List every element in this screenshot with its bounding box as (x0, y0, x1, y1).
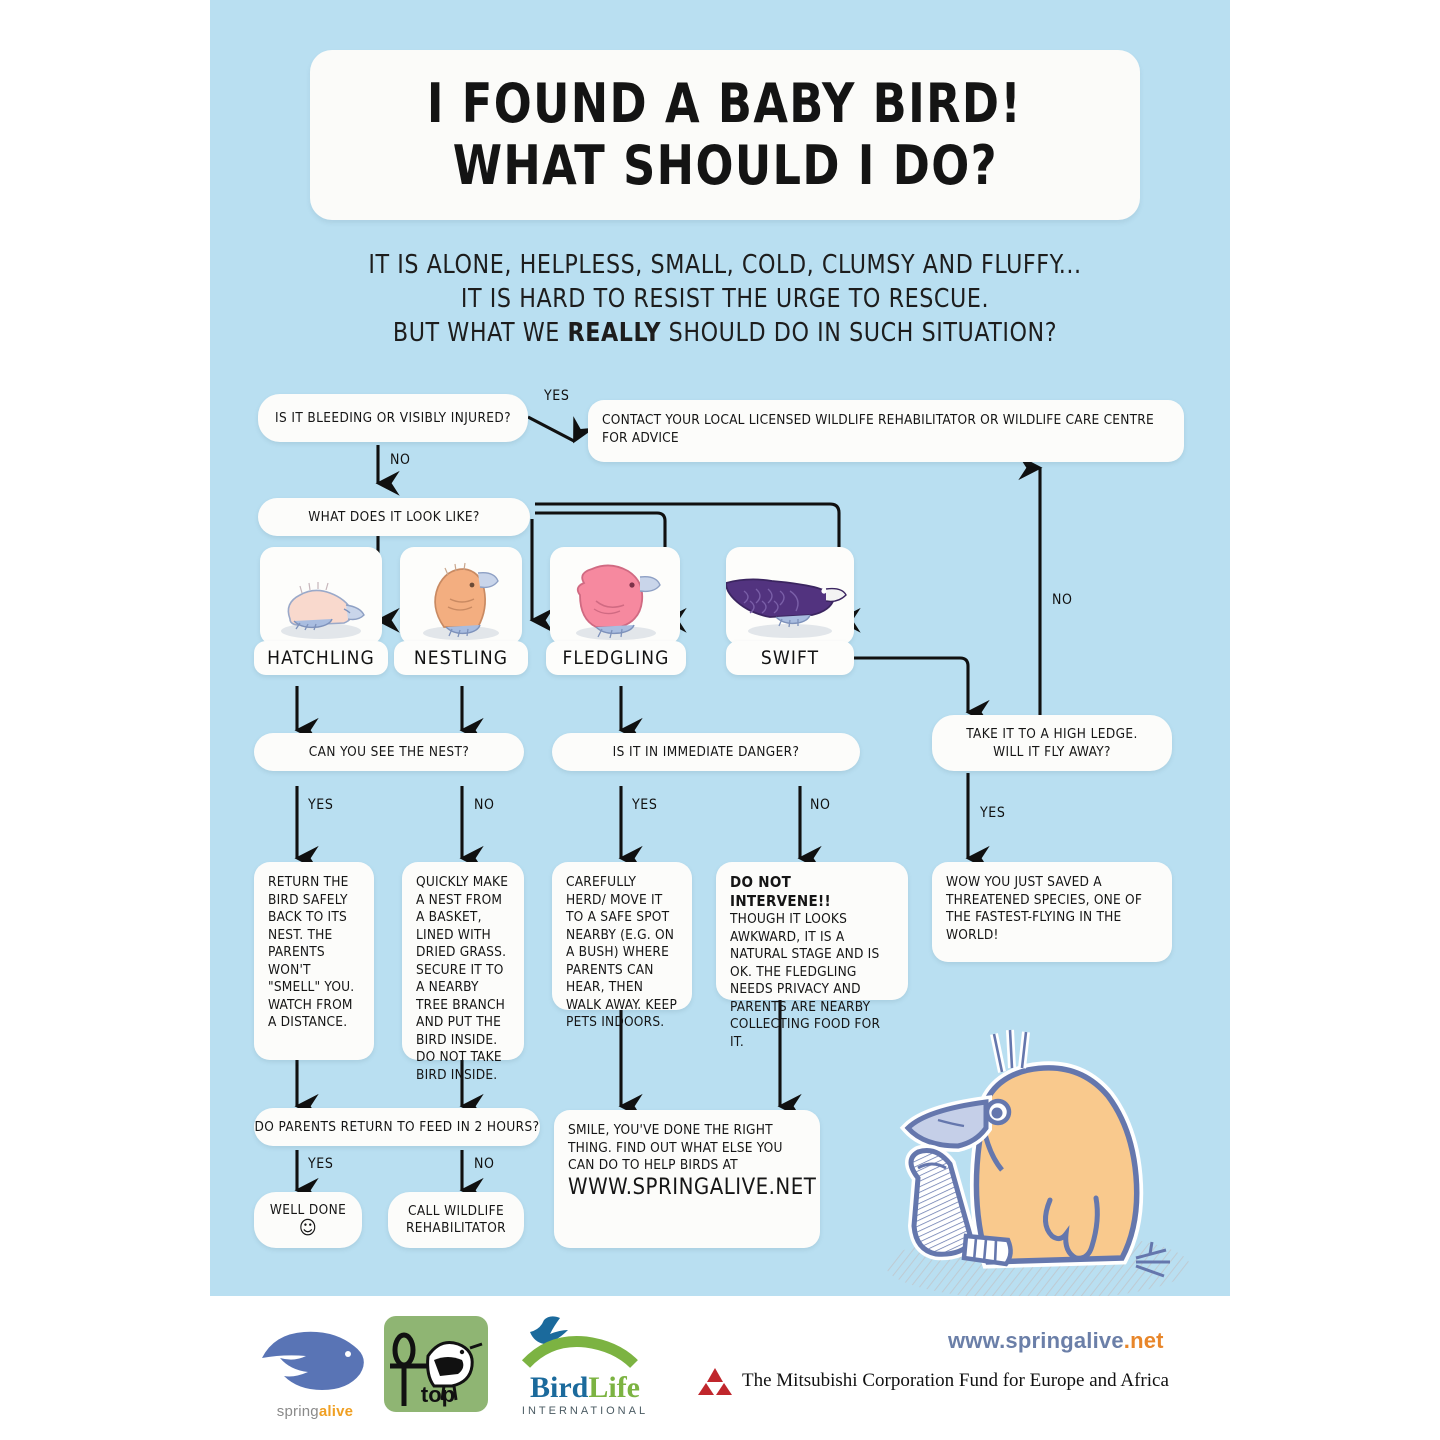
edge-label-parents-no: NO (474, 1156, 495, 1172)
spring-alive-word-alive: alive (319, 1403, 353, 1420)
fledgling-bird-icon (550, 547, 680, 645)
bird-card-hatchling[interactable] (260, 547, 382, 645)
mitsubishi-fund-text: The Mitsubishi Corporation Fund for Euro… (742, 1370, 1169, 1392)
answer-return-to-nest[interactable]: RETURN THE BIRD SAFELY BACK TO ITS NEST.… (254, 862, 374, 1060)
otop-logo[interactable]: top (382, 1314, 490, 1414)
question-parents-return-label: DO PARENTS RETURN TO FEED IN 2 HOURS? (255, 1119, 540, 1135)
bird-card-nestling[interactable] (400, 547, 522, 645)
edge-label-nest-no: NO (474, 797, 495, 813)
subtitle-emphasis: REALLY (568, 318, 661, 348)
answer-contact-rehabilitator[interactable]: CONTACT YOUR LOCAL LICENSED WILDLIFE REH… (588, 400, 1184, 462)
bird-label-swift-text: SWIFT (761, 647, 819, 669)
answer-contact-rehabilitator-text: CONTACT YOUR LOCAL LICENSED WILDLIFE REH… (602, 412, 1154, 446)
birdlife-logo-icon (510, 1312, 660, 1372)
swift-bird-icon (726, 547, 854, 645)
question-is-it-injured[interactable]: IS IT BLEEDING OR VISIBLY INJURED? (258, 394, 528, 442)
question-what-does-it-look-like-label: WHAT DOES IT LOOK LIKE? (308, 509, 480, 525)
question-immediate-danger[interactable]: IS IT IN IMMEDIATE DANGER? (552, 733, 860, 771)
title-line-2: WHAT SHOULD I DO? (452, 135, 997, 197)
subtitle-line-2: IT IS HARD TO RESIST THE URGE TO RESCUE. (331, 282, 1120, 316)
subtitle-line-1: IT IS ALONE, HELPLESS, SMALL, COLD, CLUM… (331, 248, 1120, 282)
answer-smile-done-right-thing[interactable]: SMILE, YOU'VE DONE THE RIGHT THING. FIND… (554, 1110, 820, 1248)
bird-label-swift: SWIFT (726, 641, 854, 675)
birdlife-word-life: Life (588, 1371, 640, 1404)
birdlife-logo[interactable]: BirdLife INTERNATIONAL (510, 1312, 660, 1416)
answer-make-nest-text: QUICKLY MAKE A NEST FROM A BASKET, LINED… (416, 874, 508, 1083)
birdlife-subtitle: INTERNATIONAL (510, 1405, 660, 1417)
springalive-url-text: WWW.SPRINGALIVE.NET (568, 1179, 808, 1197)
birdlife-word-bird: Bird (530, 1371, 588, 1404)
question-parents-return[interactable]: DO PARENTS RETURN TO FEED IN 2 HOURS? (254, 1108, 540, 1146)
footer-url[interactable]: www.springalive.net (948, 1328, 1164, 1354)
question-high-ledge-label: TAKE IT TO A HIGH LEDGE. WILL IT FLY AWA… (966, 725, 1137, 761)
bird-label-fledgling: FLEDGLING (546, 641, 686, 675)
otop-label: top (421, 1382, 455, 1407)
answer-do-not-intervene-body: THOUGH IT LOOKS AWKWARD, IT IS A NATURAL… (730, 911, 880, 1050)
answer-do-not-intervene[interactable]: DO NOT INTERVENE!! THOUGH IT LOOKS AWKWA… (716, 862, 908, 1000)
footer-url-tld: .net (1124, 1328, 1164, 1353)
smiley-face-icon: ☺ (299, 1219, 317, 1238)
bird-card-fledgling[interactable] (550, 547, 680, 645)
edge-label-ledge-yes: YES (980, 805, 1005, 821)
footer: springalive top BirdLife INTE (210, 1296, 1230, 1440)
answer-do-not-intervene-heading: DO NOT INTERVENE!! (730, 873, 831, 910)
question-immediate-danger-label: IS IT IN IMMEDIATE DANGER? (613, 744, 800, 760)
answer-smile-text: SMILE, YOU'VE DONE THE RIGHT THING. FIND… (568, 1122, 783, 1173)
answer-herd-to-safe-spot[interactable]: CAREFULLY HERD/ MOVE IT TO A SAFE SPOT N… (552, 862, 692, 1010)
title-line-1: I FOUND A BABY BIRD! (427, 73, 1022, 135)
question-high-ledge[interactable]: TAKE IT TO A HIGH LEDGE. WILL IT FLY AWA… (932, 715, 1172, 771)
baby-bird-mascot-icon (860, 1010, 1210, 1296)
question-what-does-it-look-like[interactable]: WHAT DOES IT LOOK LIKE? (258, 498, 530, 536)
swallow-logo-icon (250, 1312, 380, 1402)
answer-make-nest[interactable]: QUICKLY MAKE A NEST FROM A BASKET, LINED… (402, 862, 524, 1060)
spring-alive-wordmark: springalive (250, 1403, 380, 1420)
edge-label-injured-yes: YES (544, 388, 569, 404)
otop-logo-icon: top (382, 1314, 490, 1414)
subtitle: IT IS ALONE, HELPLESS, SMALL, COLD, CLUM… (331, 248, 1120, 350)
bird-label-hatchling-text: HATCHLING (267, 647, 375, 669)
bird-label-nestling-text: NESTLING (414, 647, 508, 669)
bird-label-fledgling-text: FLEDGLING (562, 647, 669, 669)
answer-well-done-text: WELL DONE (270, 1202, 346, 1218)
bird-card-swift[interactable] (726, 547, 854, 645)
question-is-it-injured-label: IS IT BLEEDING OR VISIBLY INJURED? (275, 410, 511, 426)
nestling-bird-icon (400, 547, 522, 645)
bird-label-hatchling: HATCHLING (254, 641, 388, 675)
hatchling-bird-icon (260, 547, 382, 645)
question-can-you-see-nest-label: CAN YOU SEE THE NEST? (309, 744, 469, 760)
title-card: I FOUND A BABY BIRD! WHAT SHOULD I DO? (310, 50, 1140, 220)
question-can-you-see-nest[interactable]: CAN YOU SEE THE NEST? (254, 733, 524, 771)
answer-saved-threatened-species-text: WOW YOU JUST SAVED A THREATENED SPECIES,… (946, 874, 1142, 943)
subtitle-line-3-c: SHOULD DO IN SUCH SITUATION? (661, 318, 1057, 348)
mascot-container (860, 1010, 1210, 1296)
edge-label-danger-no: NO (810, 797, 831, 813)
bird-label-nestling: NESTLING (394, 641, 528, 675)
edge-label-ledge-no: NO (1052, 592, 1073, 608)
edge-label-danger-yes: YES (632, 797, 657, 813)
answer-well-done[interactable]: WELL DONE ☺ (254, 1192, 362, 1248)
edge-label-parents-yes: YES (308, 1156, 333, 1172)
answer-saved-threatened-species[interactable]: WOW YOU JUST SAVED A THREATENED SPECIES,… (932, 862, 1172, 962)
answer-call-rehabilitator-text: CALL WILDLIFE REHABILITATOR (388, 1203, 524, 1237)
mitsubishi-logo-icon (698, 1366, 732, 1396)
edge-label-injured-no: NO (390, 452, 411, 468)
poster-panel: I FOUND A BABY BIRD! WHAT SHOULD I DO? I… (210, 0, 1230, 1296)
edge-label-nest-yes: YES (308, 797, 333, 813)
spring-alive-logo[interactable]: springalive (250, 1312, 380, 1422)
mitsubishi-logo[interactable]: The Mitsubishi Corporation Fund for Euro… (698, 1366, 1169, 1396)
answer-return-to-nest-text: RETURN THE BIRD SAFELY BACK TO ITS NEST.… (268, 874, 354, 1030)
spring-alive-word-spring: spring (277, 1403, 319, 1420)
footer-url-main: www.springalive (948, 1328, 1124, 1353)
subtitle-line-3-a: BUT WHAT WE (393, 318, 568, 348)
answer-call-rehabilitator[interactable]: CALL WILDLIFE REHABILITATOR (388, 1192, 524, 1248)
subtitle-line-3: BUT WHAT WE REALLY SHOULD DO IN SUCH SIT… (331, 316, 1120, 350)
answer-herd-to-safe-spot-text: CAREFULLY HERD/ MOVE IT TO A SAFE SPOT N… (566, 874, 677, 1030)
